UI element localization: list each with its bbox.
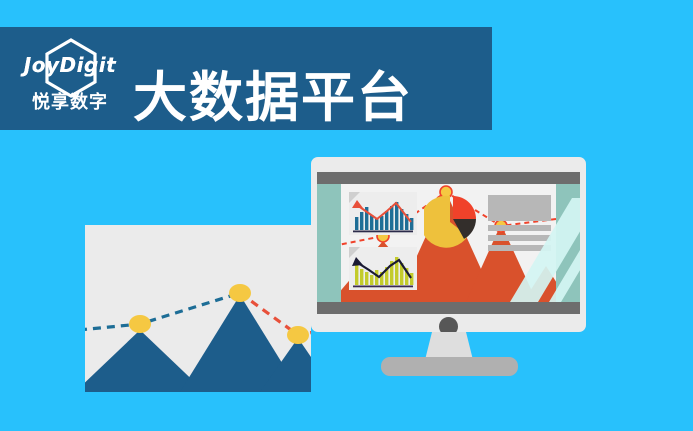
- logo-subtitle: 悦享数字: [14, 93, 126, 111]
- poster-canvas: JoyDigit 悦享数字 大数据平台: [0, 0, 693, 431]
- bar-chart-card-olive[interactable]: [349, 247, 417, 290]
- data-node: [129, 315, 151, 333]
- dashboard-content: [341, 184, 556, 302]
- desktop-monitor: [311, 157, 586, 332]
- header-banner: JoyDigit 悦享数字 大数据平台: [0, 27, 492, 130]
- mountain-line-panel: [85, 225, 311, 392]
- left-mountain-chart: [85, 225, 311, 392]
- text-placeholder-block: [488, 195, 551, 251]
- screen-side-band-right: [556, 184, 580, 302]
- placeholder-heading: [488, 195, 551, 221]
- brand-logo: JoyDigit 悦享数字: [14, 35, 126, 123]
- arrow-head-up: [352, 257, 363, 266]
- monitor-stand-base: [381, 357, 518, 376]
- monitor-bottom-bar: [317, 302, 580, 314]
- bar-chart-card-blue[interactable]: [349, 192, 417, 235]
- axis-baseline: [353, 231, 413, 233]
- monitor-top-bar: [317, 172, 580, 184]
- dashed-line-left: [85, 293, 240, 330]
- placeholder-line: [488, 225, 551, 231]
- monitor-screen: [317, 184, 580, 302]
- pie-chart[interactable]: [424, 192, 480, 248]
- placeholder-line: [488, 245, 551, 251]
- data-node: [229, 284, 251, 302]
- bar-series: [355, 202, 413, 230]
- pie-slice-b: [453, 196, 476, 219]
- placeholder-line: [488, 235, 551, 241]
- screen-side-band-left: [317, 184, 341, 302]
- page-fold-corner: [349, 247, 360, 258]
- data-node: [287, 326, 309, 344]
- axis-baseline: [353, 286, 413, 288]
- page-title: 大数据平台: [133, 69, 413, 128]
- page-fold-corner: [349, 192, 360, 203]
- logo-wordmark: JoyDigit: [14, 55, 126, 75]
